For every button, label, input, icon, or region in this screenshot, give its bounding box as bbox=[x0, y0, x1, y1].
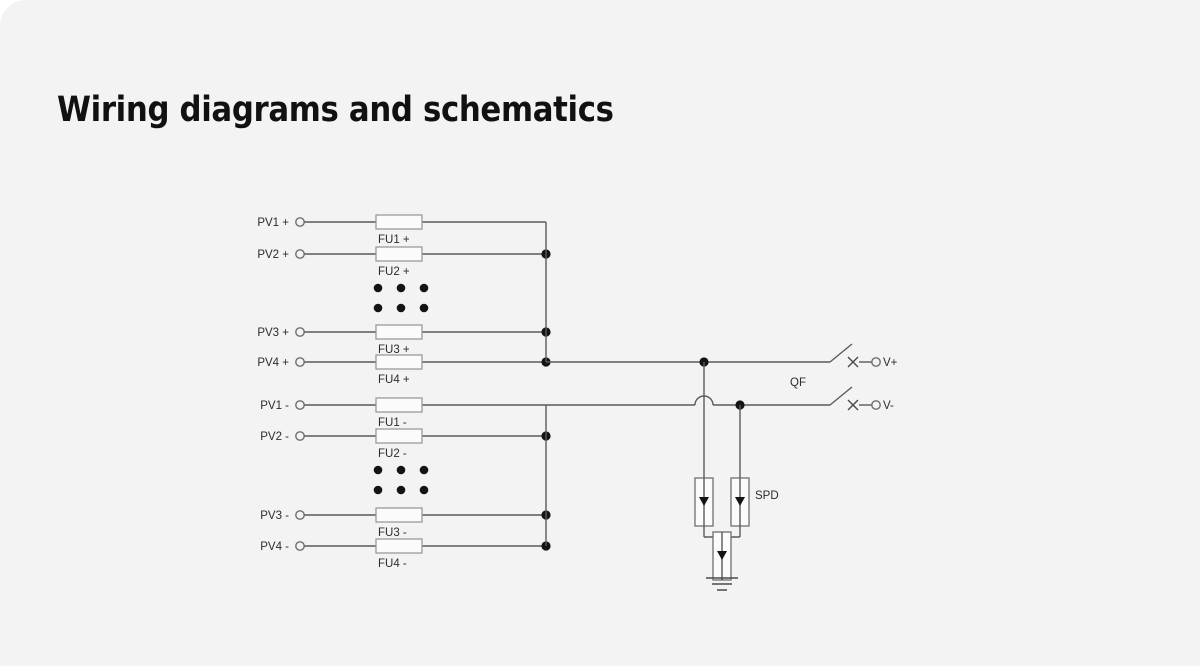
fuse-label-pos-1: FU2 + bbox=[378, 266, 410, 278]
terminal-label-neg-1: PV2 - bbox=[260, 431, 289, 443]
fuse-body-fu3 bbox=[376, 325, 422, 339]
terminal-label-neg-3: PV4 - bbox=[260, 541, 289, 553]
fuse-label-pos-2: FU3 + bbox=[378, 344, 410, 356]
terminal-label-pos-3: PV4 + bbox=[257, 357, 289, 369]
output-label-0: V+ bbox=[883, 357, 898, 369]
ellipsis-dot-pos-0-0 bbox=[374, 284, 383, 293]
terminal-label-neg-2: PV3 - bbox=[260, 510, 289, 522]
ellipsis-dot-pos-1-2 bbox=[420, 304, 429, 313]
ellipsis-dot-neg-0-1 bbox=[397, 466, 406, 475]
fuse-body-fu2 bbox=[376, 429, 422, 443]
fuse-label-neg-1: FU2 - bbox=[378, 448, 407, 460]
fuse-label-neg-3: FU4 - bbox=[378, 558, 407, 570]
terminal-pv3[interactable] bbox=[296, 328, 304, 336]
fuse-label-pos-3: FU4 + bbox=[378, 374, 410, 386]
fuse-label-neg-2: FU3 - bbox=[378, 527, 407, 539]
spd-label: SPD bbox=[755, 490, 779, 502]
fuse-body-fu4 bbox=[376, 355, 422, 369]
breaker-label-qf: QF bbox=[790, 377, 806, 389]
fuse-body-fu4 bbox=[376, 539, 422, 553]
terminal-label-neg-0: PV1 - bbox=[260, 400, 289, 412]
fuse-body-fu1 bbox=[376, 215, 422, 229]
ellipsis-dot-neg-1-0 bbox=[374, 486, 383, 495]
terminal-pv3[interactable] bbox=[296, 511, 304, 519]
fuse-body-fu2 bbox=[376, 247, 422, 261]
output-terminal-Vminus[interactable] bbox=[872, 401, 880, 409]
fuse-label-pos-0: FU1 + bbox=[378, 234, 410, 246]
breaker-blade-1[interactable] bbox=[830, 387, 852, 405]
terminal-pv2[interactable] bbox=[296, 432, 304, 440]
output-terminal-Vplus[interactable] bbox=[872, 358, 880, 366]
ellipsis-dot-pos-1-0 bbox=[374, 304, 383, 313]
terminal-label-pos-1: PV2 + bbox=[257, 249, 289, 261]
terminal-label-pos-0: PV1 + bbox=[257, 217, 289, 229]
ellipsis-dot-neg-0-2 bbox=[420, 466, 429, 475]
terminal-pv4[interactable] bbox=[296, 542, 304, 550]
terminal-pv2[interactable] bbox=[296, 250, 304, 258]
ellipsis-dot-pos-1-1 bbox=[397, 304, 406, 313]
fuse-body-fu1 bbox=[376, 398, 422, 412]
terminal-label-pos-2: PV3 + bbox=[257, 327, 289, 339]
ellipsis-dot-neg-1-1 bbox=[397, 486, 406, 495]
schematic-page: Wiring diagrams and schematics PV1 +FU1 … bbox=[0, 0, 1200, 666]
ellipsis-dot-pos-0-2 bbox=[420, 284, 429, 293]
output-label-1: V- bbox=[883, 400, 894, 412]
terminal-pv1[interactable] bbox=[296, 218, 304, 226]
terminal-pv1[interactable] bbox=[296, 401, 304, 409]
fuse-label-neg-0: FU1 - bbox=[378, 417, 407, 429]
ellipsis-dot-neg-0-0 bbox=[374, 466, 383, 475]
terminal-pv4[interactable] bbox=[296, 358, 304, 366]
wiring-diagram: PV1 +FU1 +PV2 +FU2 +PV3 +FU3 +PV4 +FU4 +… bbox=[0, 0, 1200, 666]
ellipsis-dot-pos-0-1 bbox=[397, 284, 406, 293]
fuse-body-fu3 bbox=[376, 508, 422, 522]
breaker-blade-0[interactable] bbox=[830, 344, 852, 362]
ellipsis-dot-neg-1-2 bbox=[420, 486, 429, 495]
